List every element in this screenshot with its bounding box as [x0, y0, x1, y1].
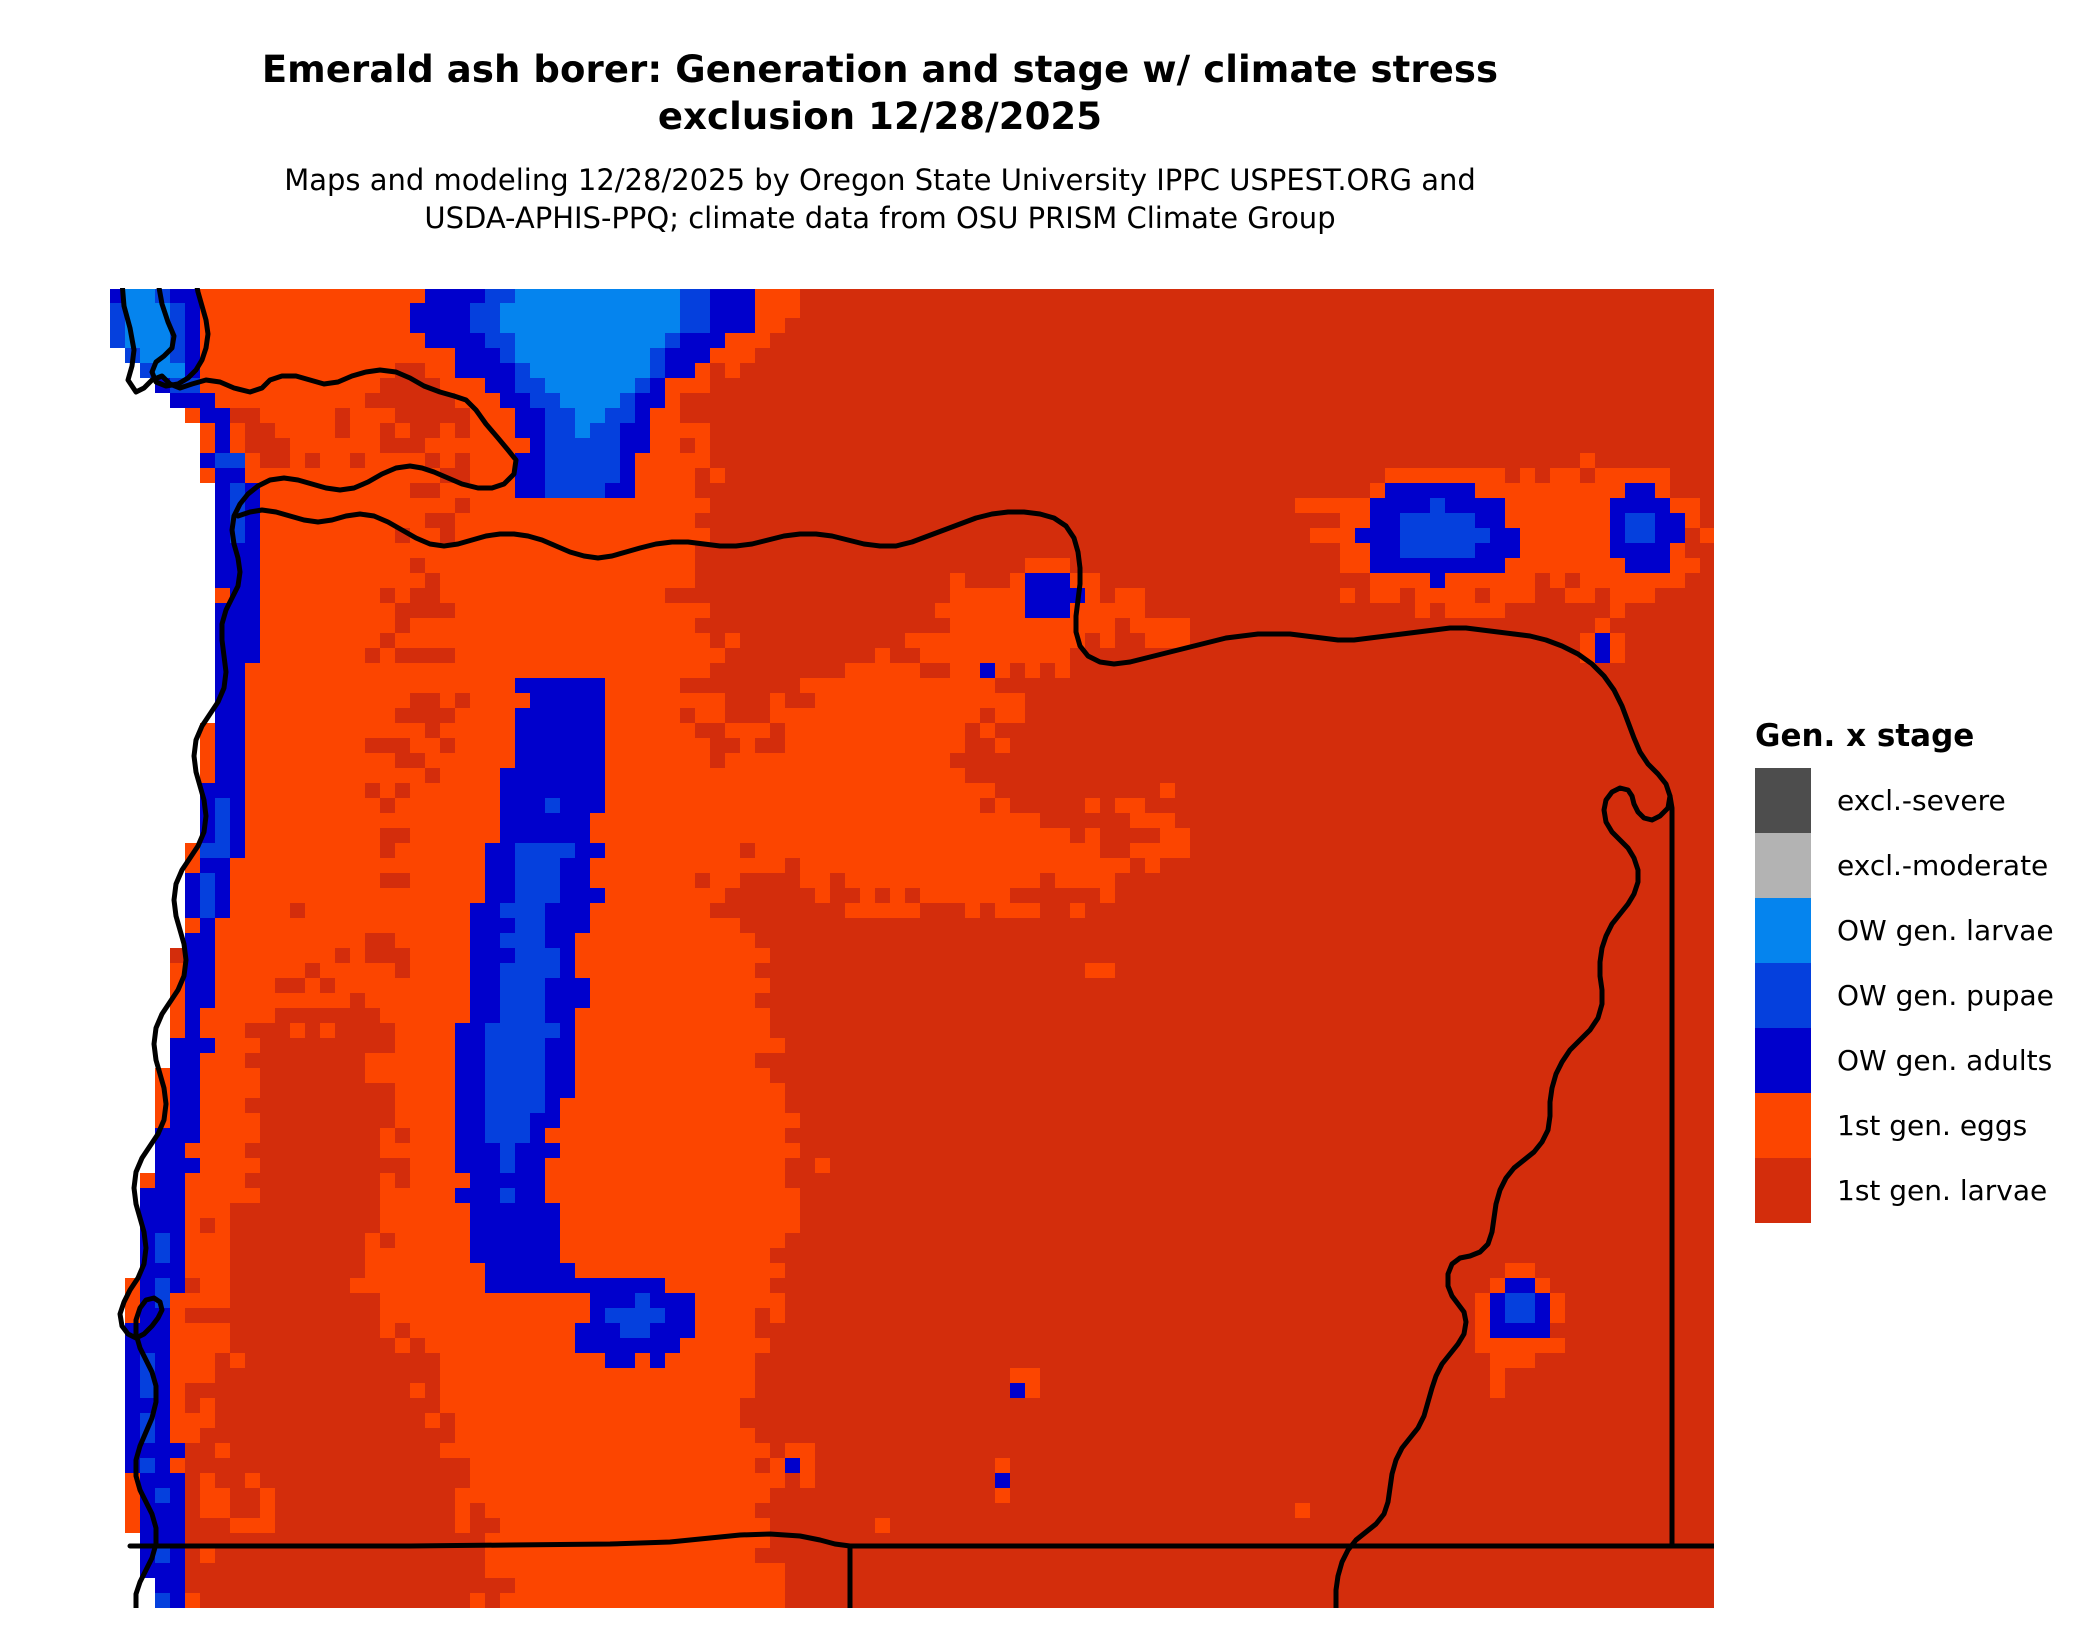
legend-item-excl_moderate[interactable]: excl.-moderate: [1755, 833, 2054, 898]
oregon-idaho-straight-boundary-path: [1670, 796, 1672, 1546]
subtitle-line-2: USDA-APHIS-PPQ; climate data from OSU PR…: [0, 199, 1760, 237]
legend-item-ow_pupae[interactable]: OW gen. pupae: [1755, 963, 2054, 1028]
subtitle-line-1: Maps and modeling 12/28/2025 by Oregon S…: [0, 161, 1760, 199]
oregon-california-nevada-boundary-path: [130, 1534, 1714, 1546]
legend-label-excl_moderate: excl.-moderate: [1837, 849, 2048, 882]
legend-label-ow_larvae: OW gen. larvae: [1837, 914, 2054, 947]
columbia-river-path: [238, 510, 1514, 664]
legend-swatch-ow_larvae: [1755, 898, 1811, 963]
legend-swatch-ow_adults: [1755, 1028, 1811, 1093]
legend-label-ow_adults: OW gen. adults: [1837, 1044, 2052, 1077]
legend-swatch-excl_severe: [1755, 768, 1811, 833]
legend-swatch-g1_larvae: [1755, 1158, 1811, 1223]
page-title-line-1: Emerald ash borer: Generation and stage …: [0, 46, 1760, 93]
legend-label-g1_eggs: 1st gen. eggs: [1837, 1109, 2027, 1142]
coastline-path: [120, 288, 516, 1608]
map-canvas-area[interactable]: [110, 288, 1714, 1608]
legend-swatch-excl_moderate: [1755, 833, 1811, 898]
legend-label-excl_severe: excl.-severe: [1837, 784, 2006, 817]
legend-item-excl_severe[interactable]: excl.-severe: [1755, 768, 2054, 833]
legend-swatch-g1_eggs: [1755, 1093, 1811, 1158]
legend-item-ow_adults[interactable]: OW gen. adults: [1755, 1028, 2054, 1093]
state-boundary-layer: [110, 288, 1714, 1608]
legend-item-g1_eggs[interactable]: 1st gen. eggs: [1755, 1093, 2054, 1158]
legend-title: Gen. x stage: [1755, 718, 2054, 754]
legend: Gen. x stage excl.-severeexcl.-moderateO…: [1755, 718, 2054, 1223]
legend-item-g1_larvae[interactable]: 1st gen. larvae: [1755, 1158, 2054, 1223]
map-figure: Emerald ash borer: Generation and stage …: [0, 0, 2100, 1645]
legend-item-ow_larvae[interactable]: OW gen. larvae: [1755, 898, 2054, 963]
wa-or-ne-boundary-path: [1514, 634, 1670, 808]
snake-river-path: [1336, 788, 1668, 1608]
legend-swatch-ow_pupae: [1755, 963, 1811, 1028]
puget-sound-inner-path: [152, 288, 208, 386]
title-block: Emerald ash borer: Generation and stage …: [0, 0, 1760, 237]
legend-label-g1_larvae: 1st gen. larvae: [1837, 1174, 2047, 1207]
subtitle-block: Maps and modeling 12/28/2025 by Oregon S…: [0, 161, 1760, 238]
legend-rows: excl.-severeexcl.-moderateOW gen. larvae…: [1755, 768, 2054, 1223]
page-title-line-2: exclusion 12/28/2025: [0, 93, 1760, 140]
legend-label-ow_pupae: OW gen. pupae: [1837, 979, 2054, 1012]
